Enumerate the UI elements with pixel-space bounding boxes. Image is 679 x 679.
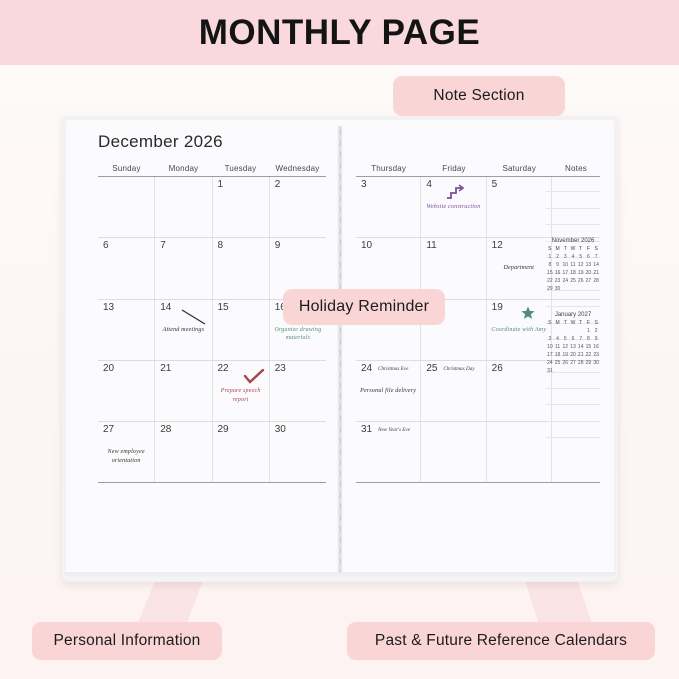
mini-day-15: 15 xyxy=(585,343,593,351)
handwritten-note: Personal file delivery xyxy=(359,387,417,396)
mini-day-empty xyxy=(585,367,593,375)
day-number: 26 xyxy=(492,363,503,374)
callout-note-section[interactable]: Note Section xyxy=(393,76,565,116)
mini-day-empty xyxy=(569,367,577,375)
weekday-header-row-left: SundayMondayTuesdayWednesday xyxy=(98,164,326,173)
mini-weekday-header: W xyxy=(569,245,577,253)
day-number: 4 xyxy=(426,179,432,190)
notes-rule-line xyxy=(546,192,600,208)
day-number: 8 xyxy=(218,240,224,251)
day-number: 23 xyxy=(275,363,286,374)
calendar-grid-left: 1267891314Attend meetings1516Organize dr… xyxy=(98,176,326,545)
day-number: 10 xyxy=(361,240,372,251)
mini-day-empty xyxy=(569,327,577,335)
handwritten-note: Coordinate with Amy xyxy=(490,326,548,335)
weekday-header-tuesday: Tuesday xyxy=(212,164,269,173)
day-cell-23[interactable]: 23 xyxy=(270,361,326,421)
day-cell-26[interactable]: 26 xyxy=(487,361,552,421)
mini-day-17: 17 xyxy=(546,351,554,359)
handwritten-note: Attend meetings xyxy=(158,326,208,335)
callout-personal-information[interactable]: Personal Information xyxy=(32,622,222,660)
day-number: 2 xyxy=(275,179,281,190)
mini-day-25: 25 xyxy=(554,359,562,367)
mini-day-23: 23 xyxy=(592,351,600,359)
mini-weekday-header: T xyxy=(561,319,569,327)
day-number: 13 xyxy=(103,302,114,313)
mini-day-3: 3 xyxy=(546,335,554,343)
mini-day-21: 21 xyxy=(577,351,585,359)
notes-rule-line xyxy=(546,291,600,307)
mini-weekday-header: M xyxy=(554,245,562,253)
mini-day-23: 23 xyxy=(554,277,562,285)
callout-holiday-reminder-label: Holiday Reminder xyxy=(299,298,429,316)
day-cell-27[interactable]: 27New employee orientation xyxy=(98,422,155,482)
notes-rule-line xyxy=(546,422,600,438)
header-banner: MONTHLY PAGE xyxy=(0,0,679,65)
day-cell-8[interactable]: 8 xyxy=(213,238,270,298)
mini-day-9: 9 xyxy=(592,335,600,343)
mini-day-29: 29 xyxy=(546,285,554,293)
mini-day-13: 13 xyxy=(569,343,577,351)
mini-calendar-january: January 2027SMTWTFS123456789101112131415… xyxy=(546,312,600,375)
mini-day-15: 15 xyxy=(546,269,554,277)
weekday-header-row-right: ThursdayFridaySaturdayNotes xyxy=(356,164,600,173)
notes-rule-line xyxy=(546,405,600,421)
mini-day-empty xyxy=(554,367,562,375)
day-cell-7[interactable]: 7 xyxy=(155,238,212,298)
mini-day-17: 17 xyxy=(561,269,569,277)
day-cell-24[interactable]: 24Christmas EvePersonal file delivery xyxy=(356,361,421,421)
day-number: 19 xyxy=(492,302,503,313)
mini-day-26: 26 xyxy=(577,277,585,285)
weekday-header-friday: Friday xyxy=(421,164,486,173)
mini-day-2: 2 xyxy=(592,327,600,335)
callout-personal-information-label: Personal Information xyxy=(53,632,200,650)
mini-day-19: 19 xyxy=(561,351,569,359)
zigzag-arrow-icon xyxy=(445,184,465,205)
day-number: 27 xyxy=(103,424,114,435)
callout-note-section-label: Note Section xyxy=(433,87,524,105)
mini-weekday-header: S xyxy=(546,245,554,253)
mini-day-empty xyxy=(577,327,585,335)
mini-day-empty xyxy=(577,285,585,293)
day-cell-6[interactable]: 6 xyxy=(98,238,155,298)
mini-day-20: 20 xyxy=(585,269,593,277)
mini-day-7: 7 xyxy=(577,335,585,343)
mini-day-21: 21 xyxy=(592,269,600,277)
holiday-label: New Year's Eve xyxy=(378,427,410,433)
mini-weekday-header: S xyxy=(592,319,600,327)
day-number: 7 xyxy=(160,240,166,251)
mini-weekday-header: T xyxy=(577,245,585,253)
day-number: 25 xyxy=(426,363,437,374)
mini-day-29: 29 xyxy=(585,359,593,367)
weekday-header-saturday: Saturday xyxy=(487,164,552,173)
day-cell-19[interactable]: 19Coordinate with Amy xyxy=(487,300,552,360)
mini-day-24: 24 xyxy=(546,359,554,367)
day-cell-empty[interactable] xyxy=(155,177,212,237)
notebook-bottom-edge xyxy=(64,572,616,580)
mini-day-4: 4 xyxy=(554,335,562,343)
handwritten-note: New employee orientation xyxy=(101,448,151,465)
day-number: 3 xyxy=(361,179,367,190)
page-title: MONTHLY PAGE xyxy=(0,13,679,53)
mini-day-30: 30 xyxy=(554,285,562,293)
holiday-label: Christmas Day xyxy=(443,366,474,372)
day-cell-28[interactable]: 28 xyxy=(155,422,212,482)
mini-day-5: 5 xyxy=(561,335,569,343)
mini-day-empty xyxy=(592,285,600,293)
mini-day-7: 7 xyxy=(592,253,600,261)
pen-stroke-icon xyxy=(181,309,207,325)
day-cell-29[interactable]: 29 xyxy=(213,422,270,482)
day-number: 22 xyxy=(218,363,229,374)
day-number: 5 xyxy=(492,179,498,190)
handwritten-note: Prepare speech report xyxy=(216,387,266,404)
mini-weekday-header: W xyxy=(569,319,577,327)
month-title: December 2026 xyxy=(98,132,223,152)
mini-calendar-title: January 2027 xyxy=(546,312,600,318)
mini-day-8: 8 xyxy=(546,261,554,269)
mini-day-11: 11 xyxy=(554,343,562,351)
notebook-spine-perforation xyxy=(340,130,341,574)
mini-day-1: 1 xyxy=(546,253,554,261)
weekday-header-monday: Monday xyxy=(155,164,212,173)
notes-rule-line xyxy=(546,389,600,405)
mini-day-empty xyxy=(585,285,593,293)
day-cell-5[interactable]: 5 xyxy=(487,177,552,237)
mini-day-27: 27 xyxy=(569,359,577,367)
day-cell-empty[interactable] xyxy=(421,422,486,482)
day-number: 6 xyxy=(103,240,109,251)
day-number: 14 xyxy=(160,302,171,313)
day-number: 12 xyxy=(492,240,503,251)
weekday-header-sunday: Sunday xyxy=(98,164,155,173)
mini-weekday-header: M xyxy=(554,319,562,327)
mini-day-19: 19 xyxy=(577,269,585,277)
mini-day-6: 6 xyxy=(585,253,593,261)
mini-day-16: 16 xyxy=(554,269,562,277)
day-cell-31[interactable]: 31New Year's Eve xyxy=(356,422,421,482)
mini-day-28: 28 xyxy=(577,359,585,367)
day-number: 11 xyxy=(426,240,436,251)
mini-day-empty xyxy=(561,367,569,375)
mini-day-9: 9 xyxy=(554,261,562,269)
mini-day-5: 5 xyxy=(577,253,585,261)
day-cell-30[interactable]: 30 xyxy=(270,422,326,482)
mini-day-12: 12 xyxy=(561,343,569,351)
mini-day-10: 10 xyxy=(546,343,554,351)
mini-day-13: 13 xyxy=(585,261,593,269)
mini-day-14: 14 xyxy=(592,261,600,269)
calendar-week-row: 27New employee orientation282930 xyxy=(98,422,326,483)
weekday-header-thursday: Thursday xyxy=(356,164,421,173)
mini-weekday-header: T xyxy=(577,319,585,327)
mini-calendar-title: November 2026 xyxy=(546,238,600,244)
mini-day-empty xyxy=(561,327,569,335)
callout-reference-calendars[interactable]: Past & Future Reference Calendars xyxy=(347,622,655,660)
day-cell-13[interactable]: 13 xyxy=(98,300,155,360)
mini-day-18: 18 xyxy=(569,269,577,277)
day-number: 31 xyxy=(361,424,372,435)
mini-day-25: 25 xyxy=(569,277,577,285)
mini-day-20: 20 xyxy=(569,351,577,359)
mini-day-31: 31 xyxy=(546,367,554,375)
day-number: 30 xyxy=(275,424,286,435)
day-number: 15 xyxy=(218,302,229,313)
day-cell-12[interactable]: 12Department xyxy=(487,238,552,298)
mini-day-empty xyxy=(561,285,569,293)
mini-day-30: 30 xyxy=(592,359,600,367)
callout-reference-calendars-label: Past & Future Reference Calendars xyxy=(375,632,627,650)
mini-weekday-header: S xyxy=(592,245,600,253)
day-cell-25[interactable]: 25Christmas Day xyxy=(421,361,486,421)
day-number: 28 xyxy=(160,424,171,435)
handwritten-note: Department xyxy=(490,264,548,273)
mini-day-4: 4 xyxy=(569,253,577,261)
mini-day-12: 12 xyxy=(577,261,585,269)
mini-calendar-grid: SMTWTFS123456789101112131415161718192021… xyxy=(546,245,600,293)
notes-section[interactable] xyxy=(546,176,600,426)
mini-day-empty xyxy=(546,327,554,335)
day-cell-empty[interactable] xyxy=(98,177,155,237)
mini-day-empty xyxy=(554,327,562,335)
planner-notebook: December 2026 SundayMondayTuesdayWednesd… xyxy=(62,116,618,582)
mini-day-8: 8 xyxy=(585,335,593,343)
notes-rule-line xyxy=(546,373,600,389)
day-number: 29 xyxy=(218,424,229,435)
day-number: 24 xyxy=(361,363,372,374)
calendar-page-right: ThursdayFridaySaturdayNotes 34Website co… xyxy=(346,120,612,574)
star-icon xyxy=(521,306,535,325)
mini-day-empty xyxy=(577,367,585,375)
day-cell-empty[interactable] xyxy=(487,422,552,482)
mini-day-18: 18 xyxy=(554,351,562,359)
mini-day-22: 22 xyxy=(585,351,593,359)
callout-holiday-reminder[interactable]: Holiday Reminder xyxy=(283,289,445,325)
mini-weekday-header: F xyxy=(585,319,593,327)
mini-day-11: 11 xyxy=(569,261,577,269)
day-cell-21[interactable]: 21 xyxy=(155,361,212,421)
day-cell-3[interactable]: 3 xyxy=(356,177,421,237)
day-cell-2[interactable]: 2 xyxy=(270,177,326,237)
calendar-week-row: 12 xyxy=(98,177,326,238)
notes-rule-line xyxy=(546,209,600,225)
day-cell-4[interactable]: 4Website construction xyxy=(421,177,486,237)
mini-day-16: 16 xyxy=(592,343,600,351)
mini-calendar-november: November 2026SMTWTFS12345678910111213141… xyxy=(546,238,600,293)
mini-day-2: 2 xyxy=(554,253,562,261)
mini-day-empty xyxy=(592,367,600,375)
mini-weekday-header: S xyxy=(546,319,554,327)
mini-day-10: 10 xyxy=(561,261,569,269)
day-cell-20[interactable]: 20 xyxy=(98,361,155,421)
mini-day-22: 22 xyxy=(546,277,554,285)
notebook-pages: December 2026 SundayMondayTuesdayWednesd… xyxy=(66,120,614,574)
mini-day-1: 1 xyxy=(585,327,593,335)
day-number: 20 xyxy=(103,363,114,374)
day-number: 9 xyxy=(275,240,281,251)
mini-day-27: 27 xyxy=(585,277,593,285)
notes-rule-line xyxy=(546,176,600,192)
mini-weekday-header: T xyxy=(561,245,569,253)
mini-day-3: 3 xyxy=(561,253,569,261)
day-number: 1 xyxy=(218,179,224,190)
day-cell-14[interactable]: 14Attend meetings xyxy=(155,300,212,360)
mini-weekday-header: F xyxy=(585,245,593,253)
mini-day-28: 28 xyxy=(592,277,600,285)
mini-calendar-grid: SMTWTFS123456789101112131415161718192021… xyxy=(546,319,600,375)
mini-day-24: 24 xyxy=(561,277,569,285)
handwritten-note: Organize drawing materials xyxy=(273,326,323,343)
day-number: 21 xyxy=(160,363,171,374)
mini-day-26: 26 xyxy=(561,359,569,367)
notes-column-header: Notes xyxy=(552,164,600,173)
weekday-header-wednesday: Wednesday xyxy=(269,164,326,173)
holiday-label: Christmas Eve xyxy=(378,366,408,372)
day-cell-22[interactable]: 22Prepare speech report xyxy=(213,361,270,421)
day-cell-15[interactable]: 15 xyxy=(213,300,270,360)
mini-day-6: 6 xyxy=(569,335,577,343)
day-cell-1[interactable]: 1 xyxy=(213,177,270,237)
handwritten-note: Website construction xyxy=(424,203,482,212)
calendar-week-row: 202122Prepare speech report23 xyxy=(98,361,326,422)
mini-day-14: 14 xyxy=(577,343,585,351)
calendar-page-left: December 2026 SundayMondayTuesdayWednesd… xyxy=(72,120,340,574)
mini-day-empty xyxy=(569,285,577,293)
